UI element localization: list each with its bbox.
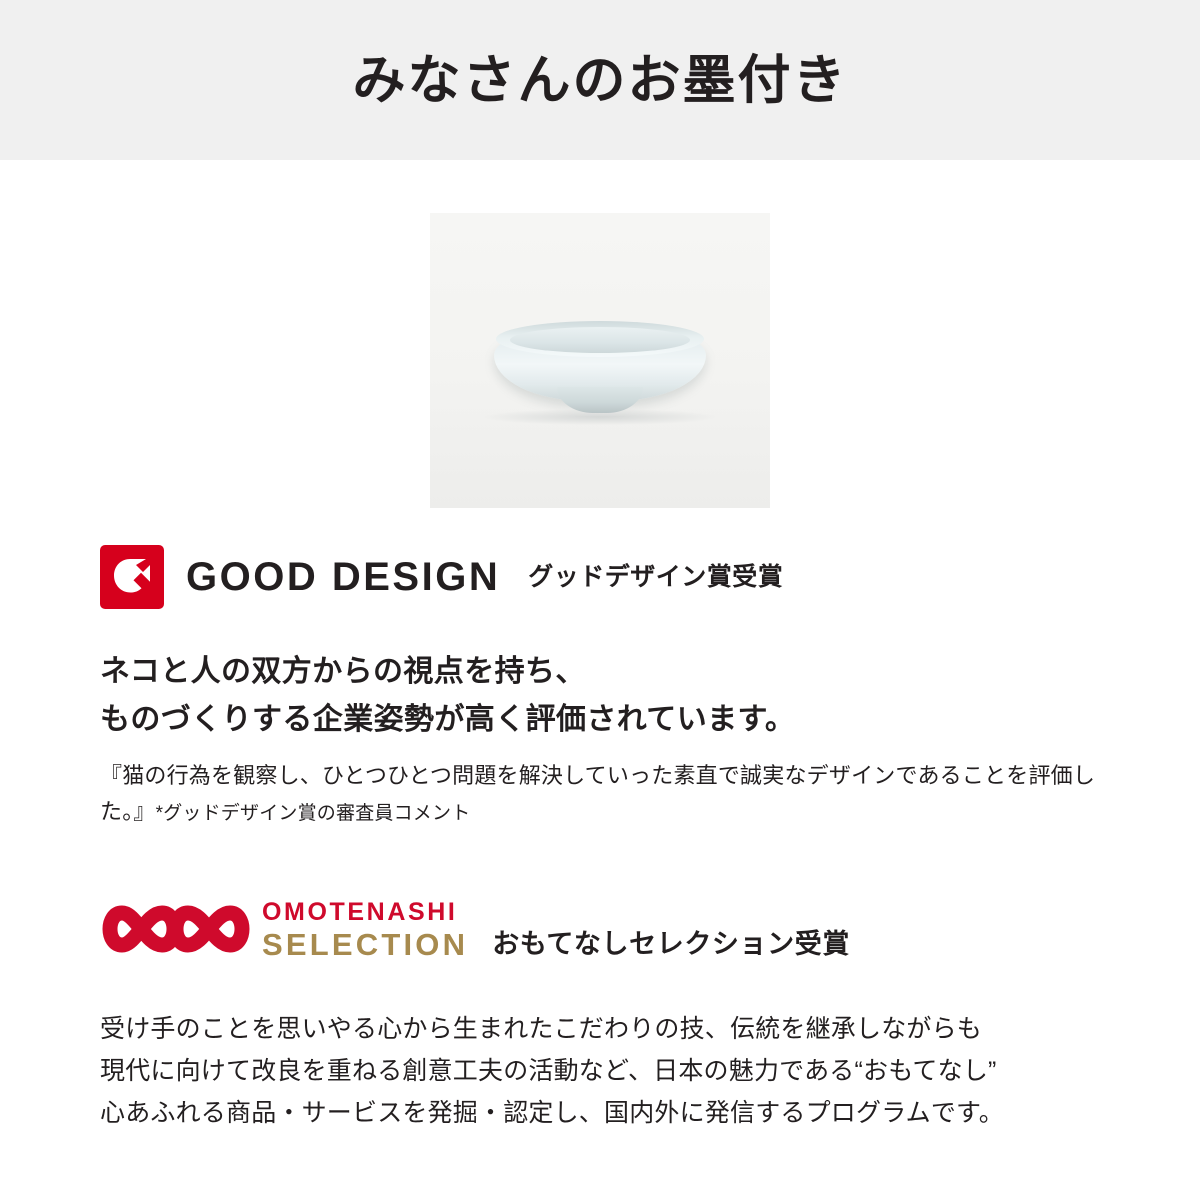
good-design-wordmark: GOOD DESIGN bbox=[186, 557, 500, 597]
omotenashi-award-label: おもてなしセレクション受賞 bbox=[492, 931, 850, 962]
omotenashi-wordmark: OMOTENASHI SELECTION bbox=[262, 898, 468, 962]
good-design-logo-icon bbox=[100, 545, 164, 609]
omotenashi-wordmark-line2: SELECTION bbox=[262, 927, 468, 963]
bowl-inner-basin bbox=[510, 327, 690, 353]
good-design-quote-source: *グッドデザイン賞の審査員コメント bbox=[156, 803, 471, 824]
omotenashi-infinity-logo-icon bbox=[100, 899, 250, 961]
product-photo bbox=[430, 213, 770, 508]
bowl-illustration bbox=[494, 325, 706, 417]
good-design-lead-line2: ものづくりする企業姿勢が高く評価されています。 bbox=[100, 696, 1110, 744]
omotenashi-description-line2: 現代に向けて改良を重ねる創意工夫の活動など、日本の魅力である“おもてなし” bbox=[100, 1050, 1110, 1092]
good-design-quote-block: 『猫の行為を観察し、ひとつひとつ問題を解決していった素直で誠実なデザインであるこ… bbox=[100, 758, 1120, 829]
good-design-award-label: グッドデザイン賞受賞 bbox=[528, 565, 783, 590]
good-design-lead: ネコと人の双方からの視点を持ち、 ものづくりする企業姿勢が高く評価されています。 bbox=[100, 648, 1110, 744]
page-title: みなさんのお墨付き bbox=[353, 54, 848, 107]
good-design-lead-line1: ネコと人の双方からの視点を持ち、 bbox=[100, 648, 1110, 696]
omotenashi-header: OMOTENASHI SELECTION おもてなしセレクション受賞 bbox=[100, 898, 850, 962]
good-design-header: GOOD DESIGN グッドデザイン賞受賞 bbox=[100, 545, 783, 609]
header-band: みなさんのお墨付き bbox=[0, 0, 1200, 160]
omotenashi-description-line3: 心あふれる商品・サービスを発掘・認定し、国内外に発信するプログラムです。 bbox=[100, 1092, 1110, 1134]
omotenashi-description-line1: 受け手のことを思いやる心から生まれたこだわりの技、伝統を継承しながらも bbox=[100, 1008, 1110, 1050]
page-root: みなさんのお墨付き GOOD DESIGN グッドデザイン賞受賞 ネコと人の双方… bbox=[0, 0, 1200, 1200]
bowl-foot bbox=[557, 387, 643, 413]
omotenashi-wordmark-line1: OMOTENASHI bbox=[262, 898, 468, 927]
omotenashi-description: 受け手のことを思いやる心から生まれたこだわりの技、伝統を継承しながらも 現代に向… bbox=[100, 1008, 1110, 1134]
